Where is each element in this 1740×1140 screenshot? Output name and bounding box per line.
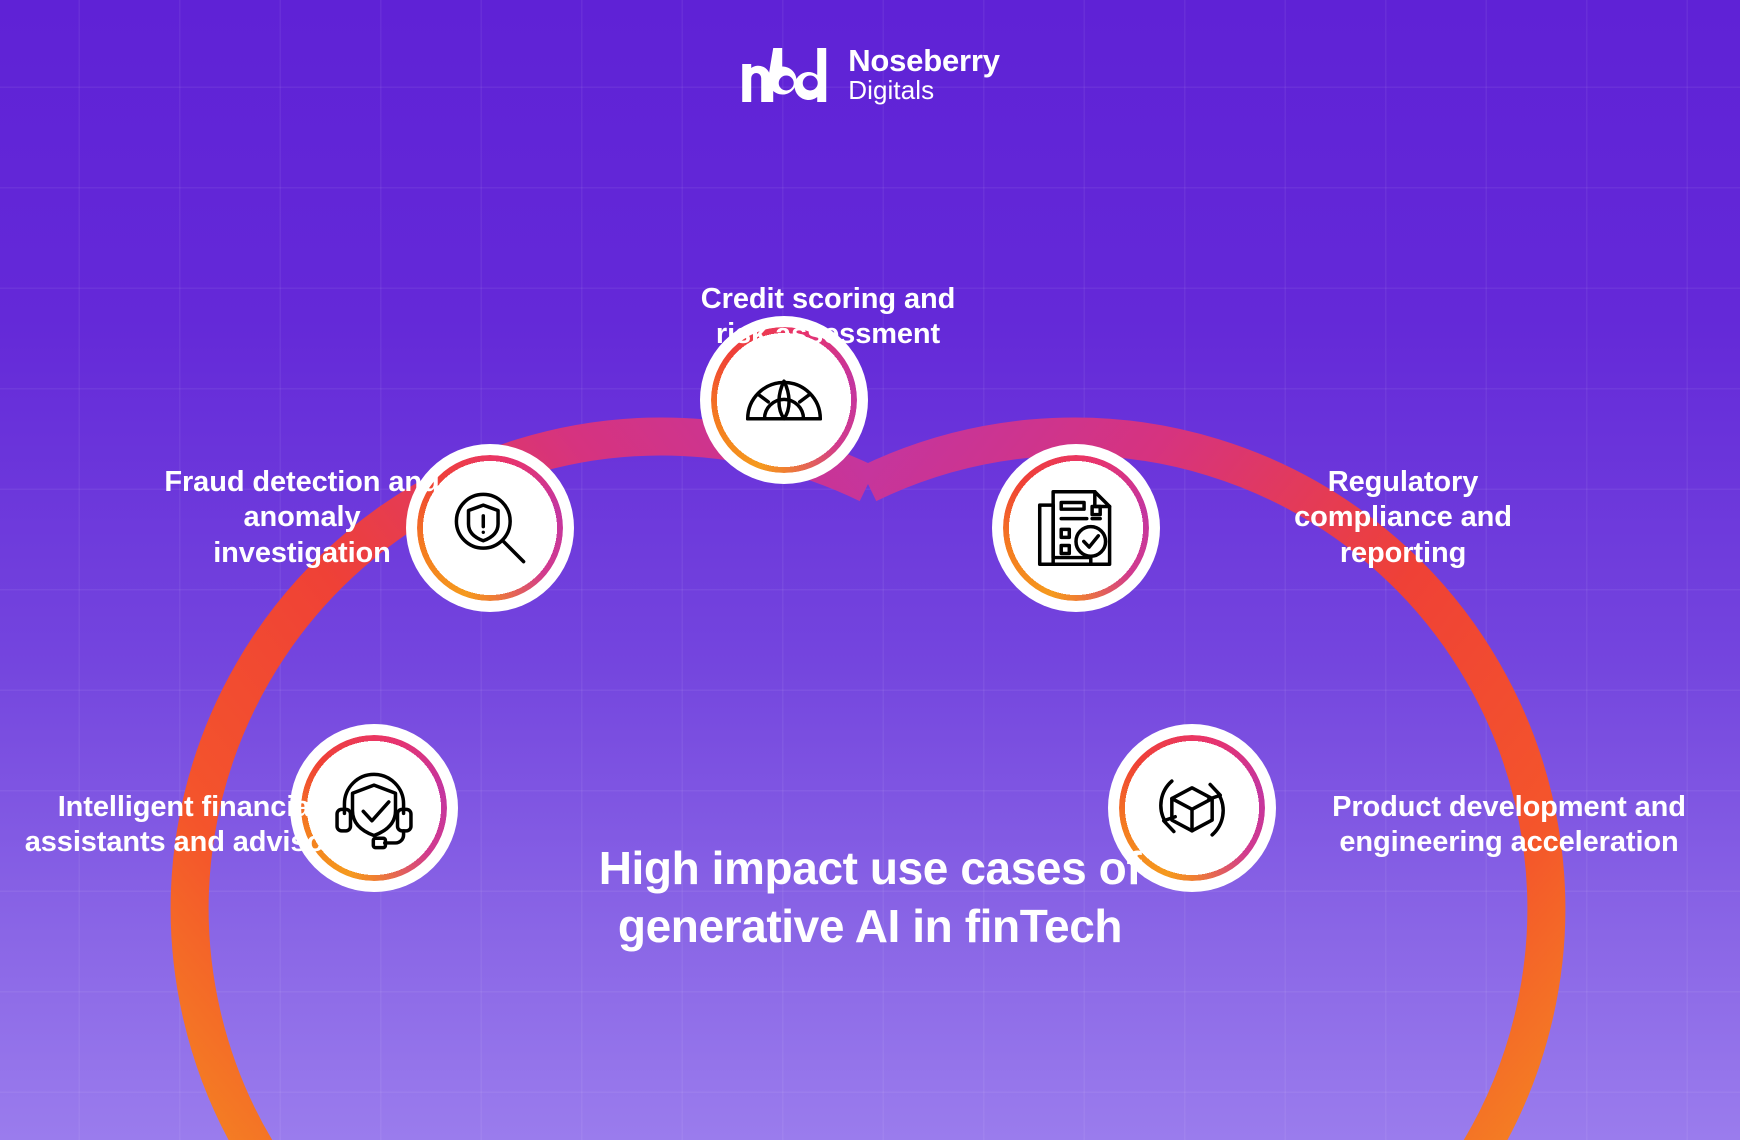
brand-name-line1: Noseberry: [848, 45, 1000, 77]
page-title: High impact use cases of generative AI i…: [560, 840, 1180, 956]
node-regulatory-compliance[interactable]: [992, 444, 1160, 612]
document-check-icon: [1033, 485, 1119, 571]
nbd-monogram-icon: [740, 46, 828, 102]
node-circle: [992, 444, 1160, 612]
node-label-credit-scoring: Credit scoring and risk assessment: [678, 282, 978, 353]
node-label-product-development: Product development and engineering acce…: [1318, 790, 1700, 861]
gauge-speedometer-icon: [741, 357, 827, 443]
brand-name-line2: Digitals: [848, 77, 1000, 104]
magnifier-shield-alert-icon: [447, 485, 533, 571]
cube-refresh-cycle-icon: [1149, 765, 1235, 851]
node-label-intelligent-assistants: Intelligent financial assistants and adv…: [18, 790, 358, 861]
node-label-regulatory-compliance: Regulatory compliance and reporting: [1258, 465, 1548, 571]
brand-logo: Noseberry Digitals: [740, 45, 1000, 103]
node-label-fraud-detection: Fraud detection and anomaly investigatio…: [158, 465, 446, 571]
